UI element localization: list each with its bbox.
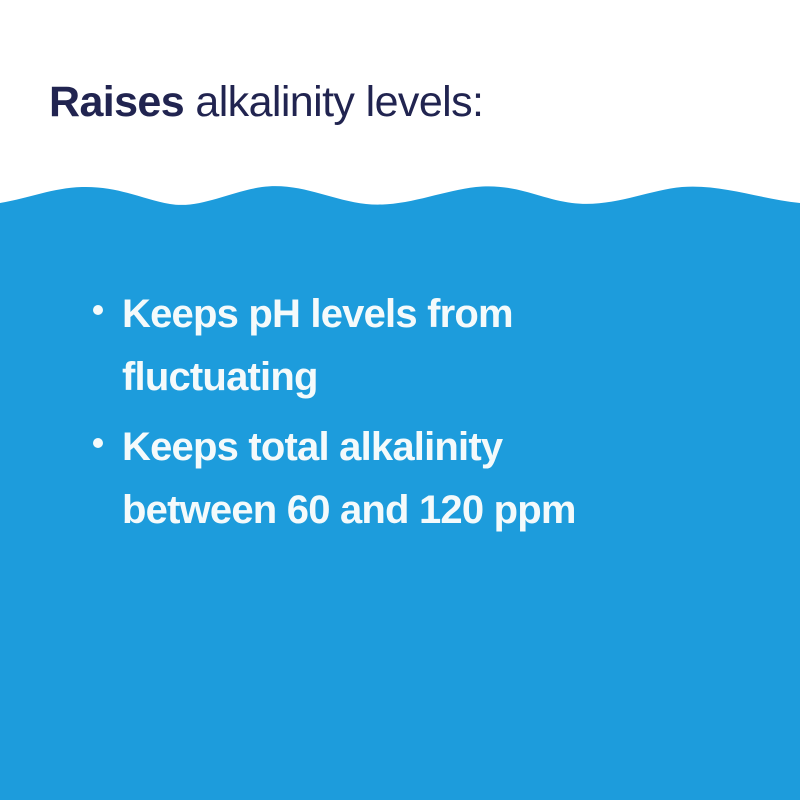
list-item-label: Keeps total alkalinity between 60 and 12… [122,416,642,542]
list-item: Keeps total alkalinity between 60 and 12… [93,416,653,542]
benefit-bullet-list: Keeps pH levels from fluctuating Keeps t… [0,0,800,800]
list-item: Keeps pH levels from fluctuating [93,283,653,409]
bullet-dot-icon [93,438,103,448]
product-benefit-card: Raises alkalinity levels: Keeps pH level… [0,0,800,800]
list-item-label: Keeps pH levels from fluctuating [122,283,642,409]
bullet-dot-icon [93,305,103,315]
